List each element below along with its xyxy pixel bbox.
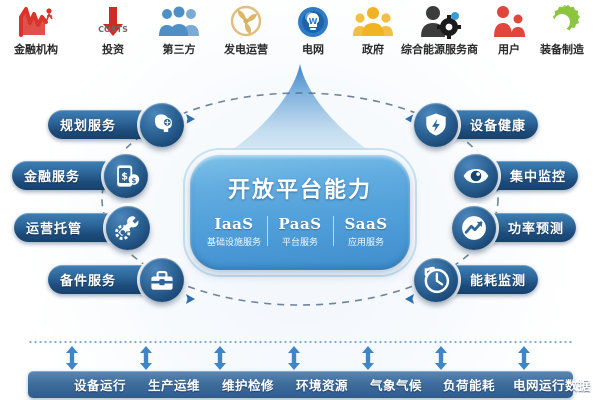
stakeholder-label: 装备制造 [540, 44, 584, 56]
toolbox-icon[interactable] [140, 258, 184, 302]
costs-down-arrow-icon: COSTS [96, 2, 130, 42]
stakeholder-9[interactable]: 装备制造 [540, 2, 584, 56]
gear-manufacturing-icon [540, 2, 584, 42]
stakeholder-8[interactable]: 用户 [489, 2, 529, 56]
data-source-bar: 设备运行生产运维维护检修环境资源气象气候负荷能耗电网运行数据 [28, 371, 573, 398]
svg-text:W: W [309, 17, 318, 26]
capability-label: 能耗监测 [470, 270, 526, 289]
svg-text:$: $ [121, 172, 128, 183]
service-layer-desc: 基础设施服务 [201, 235, 267, 248]
person-gear-icon [401, 2, 478, 42]
capability-label: 金融服务 [24, 166, 80, 185]
stakeholder-7[interactable]: 综合能源服务商 [401, 2, 478, 56]
stakeholder-1[interactable]: 金融机构 [14, 2, 58, 56]
service-layer-name: PaaS [267, 215, 333, 233]
stakeholder-row: 金融机构COSTS投资第三方发电运营W电网政府综合能源服务商用户装备制造 [0, 2, 600, 68]
data-flow-arrow-group [0, 346, 600, 370]
stakeholder-6[interactable]: 政府 [352, 2, 394, 56]
stakeholder-label: 发电运营 [224, 44, 268, 56]
capability-pill[interactable]: 金融服务 [12, 161, 118, 190]
data-source-item[interactable]: 电网运行数据 [496, 375, 600, 394]
stakeholder-4[interactable]: 发电运营 [224, 2, 268, 56]
service-layer-name: SaaS [333, 215, 399, 233]
shield-bolt-icon[interactable] [414, 103, 458, 147]
brain-planning-icon[interactable] [140, 103, 184, 147]
open-platform-card[interactable]: 开放平台能力 IaaS基础设施服务PaaS平台服务SaaS应用服务 [190, 155, 410, 270]
capability-pill[interactable]: 运营托管 [14, 213, 120, 242]
capability-label: 功率预测 [508, 218, 564, 237]
service-layer-paas[interactable]: PaaS平台服务 [267, 215, 333, 248]
stakeholder-5[interactable]: W电网 [296, 2, 330, 56]
service-layer-group: IaaS基础设施服务PaaS平台服务SaaS应用服务 [190, 215, 410, 248]
capability-pill[interactable]: 规划服务 [48, 110, 154, 139]
users-family-icon [489, 2, 529, 42]
capability-label: 运营托管 [26, 218, 82, 237]
stakeholder-label: 金融机构 [14, 44, 58, 56]
stakeholder-2[interactable]: COSTS投资 [96, 2, 130, 56]
trend-forecast-icon[interactable] [452, 206, 496, 250]
three-people-icon [157, 2, 201, 42]
capability-label: 规划服务 [60, 115, 116, 134]
service-layer-name: IaaS [201, 215, 267, 233]
stakeholder-label: 用户 [489, 44, 529, 56]
data-source-divider [28, 341, 573, 343]
clock-energy-icon[interactable] [414, 258, 458, 302]
capability-label: 备件服务 [60, 270, 116, 289]
wrench-gear-icon[interactable] [106, 206, 150, 250]
service-layer-saas[interactable]: SaaS应用服务 [333, 215, 399, 248]
service-layer-desc: 平台服务 [267, 235, 333, 248]
svg-text:$: $ [131, 176, 136, 185]
platform-title: 开放平台能力 [190, 155, 410, 204]
capability-label: 设备健康 [470, 115, 526, 134]
stakeholder-label: 电网 [296, 44, 330, 56]
inflow-arrow-bottom-left [180, 292, 196, 310]
stakeholder-label: 第三方 [157, 44, 201, 56]
capability-label: 集中监控 [510, 166, 566, 185]
government-group-icon [352, 2, 394, 42]
capability-pill[interactable]: 备件服务 [48, 265, 154, 294]
power-grid-bulb-icon: W [296, 2, 330, 42]
service-layer-iaas[interactable]: IaaS基础设施服务 [201, 215, 267, 248]
wind-turbine-icon [224, 2, 268, 42]
stakeholder-3[interactable]: 第三方 [157, 2, 201, 56]
svg-text:COSTS: COSTS [98, 25, 128, 34]
mobile-payment-icon[interactable]: $$ [104, 154, 148, 198]
stakeholder-label: 政府 [352, 44, 394, 56]
stakeholder-label: 综合能源服务商 [401, 44, 478, 56]
service-layer-desc: 应用服务 [333, 235, 399, 248]
inflow-arrow-bottom-right [404, 292, 420, 310]
eye-monitor-icon[interactable] [454, 154, 498, 198]
finance-chart-icon [14, 2, 58, 42]
infographic-canvas: 金融机构COSTS投资第三方发电运营W电网政府综合能源服务商用户装备制造 [0, 0, 600, 400]
stakeholder-label: 投资 [96, 44, 130, 56]
